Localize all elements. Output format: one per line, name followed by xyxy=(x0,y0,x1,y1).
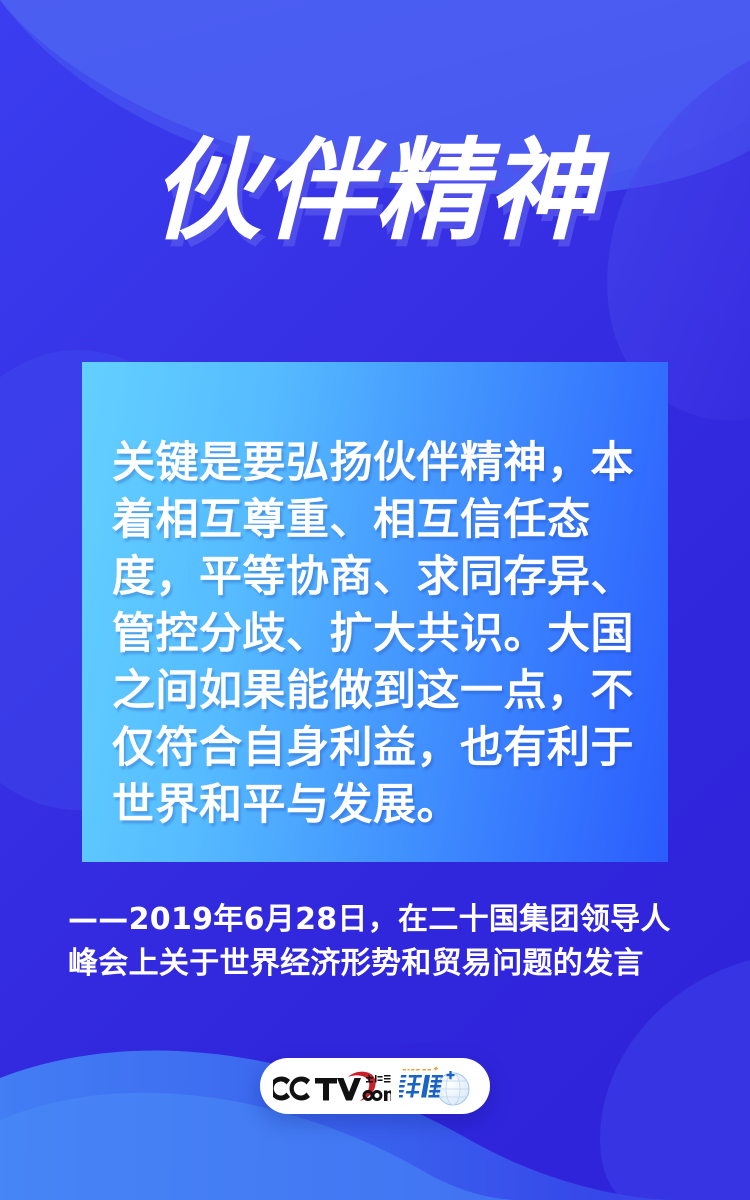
lianbo-pinyin-mark xyxy=(402,1067,438,1071)
attribution-text: ——2019年6月28日，在二十国集团领导人峰会上关于世界经济形势和贸易问题的发… xyxy=(68,898,688,986)
lianbo-logo xyxy=(399,1064,477,1108)
title-container: 伙伴精神 xyxy=(0,128,750,255)
cctv-wordmark-glyphs xyxy=(273,1077,361,1101)
quote-text: 关键是要弘扬伙伴精神，本着相互尊重、相互信任态度，平等协商、求同存异、管控分歧、… xyxy=(112,435,672,834)
wave-bottom-right xyxy=(600,960,750,1200)
poster-root: 伙伴精神 关键是要弘扬伙伴精神，本着相互尊重、相互信任态度，平等协商、求同存异、… xyxy=(0,0,750,1200)
logo-pill xyxy=(260,1058,490,1114)
cctv-chinese-label xyxy=(366,1075,391,1083)
page-title: 伙伴精神 xyxy=(151,128,599,255)
cctv-logo xyxy=(273,1066,391,1106)
lianbo-chinese-mark xyxy=(399,1075,443,1098)
